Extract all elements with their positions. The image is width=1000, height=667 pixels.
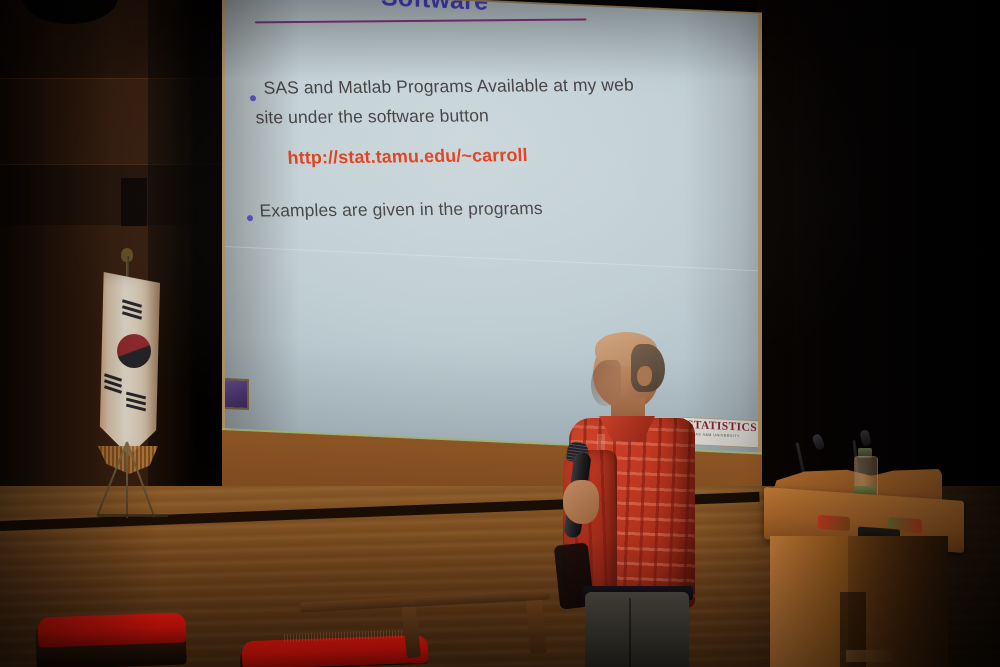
lectern [760,432,970,667]
seat-back-1[interactable] [38,612,187,647]
slide-title: Software [381,0,488,17]
presenter [545,330,735,667]
lectern-front-highlight [770,536,840,667]
flag-cloth [96,272,160,456]
bullet-marker-1 [250,95,256,101]
lecture-hall-photo: Software SAS and Matlab Programs Availab… [0,0,1000,667]
bullet-2-line-1: Examples are given in the programs [259,198,543,221]
lectern-floor-items [846,650,892,662]
taeguk-symbol [117,334,151,368]
presenter-trousers [585,592,689,667]
presenter-hand [563,480,599,524]
slide-corner-logo [225,378,249,410]
wall-niche [121,178,147,226]
presenter-trouser-seam [629,598,631,667]
slide-url[interactable]: http://stat.tamu.edu/~carroll [287,145,528,169]
presenter-ear [637,366,652,386]
gooseneck-microphone-right-capsule [859,429,871,447]
slide-title-underline [255,18,587,23]
south-korean-flag [78,256,198,524]
bullet-1-line-2: site under the software button [255,105,489,128]
lectern-item-left [818,515,850,531]
bullet-marker-2 [247,215,253,221]
tripod-leg-center [126,442,128,518]
bullet-1-line-1: SAS and Matlab Programs Available at my … [263,74,634,98]
tripod-base [98,514,168,517]
gooseneck-microphone-left-capsule [811,433,825,451]
